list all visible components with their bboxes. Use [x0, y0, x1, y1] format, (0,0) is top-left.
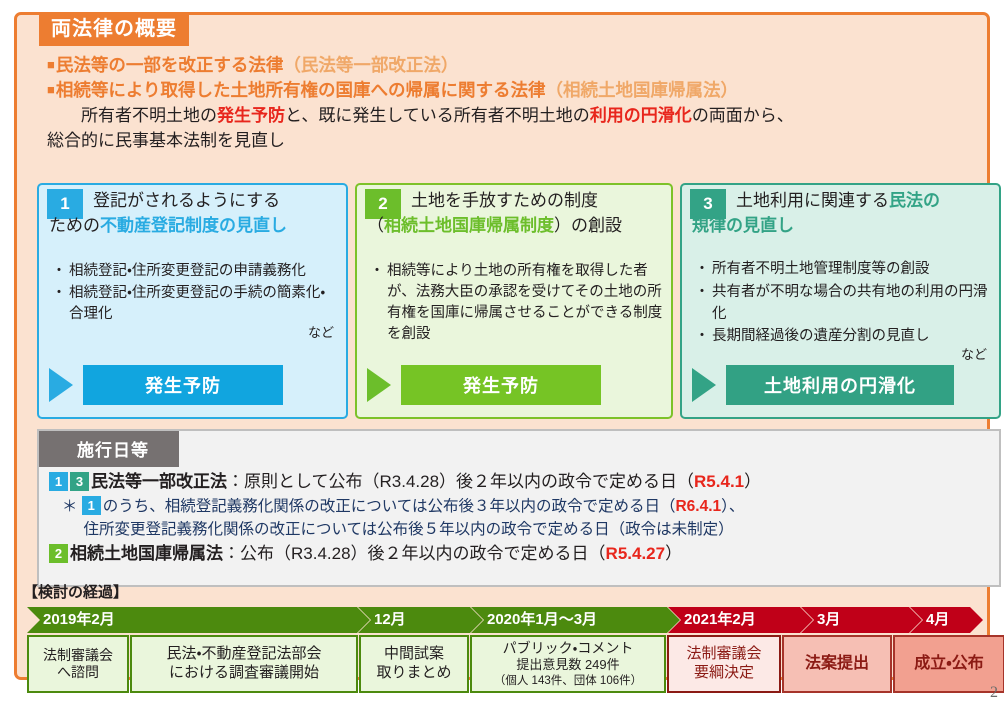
summary-line-1: 所有者不明土地の発生予防と、既に発生している所有者不明土地の利用の円滑化の両面か…	[47, 103, 977, 129]
timeline-cell-5-line2: 要綱決定	[686, 664, 761, 683]
enforcement-panel-title: 施行日等	[39, 431, 179, 467]
timeline-cell-1-text: 法制審議会 へ諮問	[41, 647, 115, 682]
measure-box-3-keyword-1: 民法の	[889, 191, 940, 210]
enforcement-line-4-tail: ）	[665, 544, 682, 563]
timeline-cell-6-text: 法案提出	[803, 654, 871, 674]
measure-box-3-heading-line1-a: 土地利用に関連する	[736, 191, 889, 210]
measure-box-1-etc: など	[49, 324, 338, 343]
timeline-cell-3-text: 中間試案 取りまとめ	[374, 645, 453, 683]
enforcement-line-4-date: R5.4.27	[606, 544, 666, 563]
measure-box-1: 1 登記がされるようにする ための不動産登記制度の見直し ・相続登記・住所変更登…	[37, 183, 348, 419]
list-item: ・相続登記・住所変更登記の申請義務化	[49, 261, 338, 282]
measure-box-3-bullet-2: 共有者が不明な場合の共有地の利用の円滑化	[712, 282, 991, 326]
measure-box-2-bullets: ・相続等により土地の所有権を取得した者が、法務大臣の承認を受けてその土地の所有権…	[367, 261, 663, 346]
summary-keyword-utilization: 利用の円滑化	[590, 106, 692, 125]
badge-2: 2	[49, 544, 68, 563]
timeline-cell-2-line1: 民法・不動産登記法部会	[166, 645, 321, 664]
enforcement-line-2-prefix: ＊	[62, 498, 78, 515]
timeline-arrow-5-label: 3月	[801, 607, 909, 633]
timeline-arrow-5: 3月	[801, 607, 909, 633]
bullet-dot-icon: ・	[692, 259, 712, 281]
measure-box-1-heading: 登記がされるようにする ための不動産登記制度の見直し	[49, 189, 347, 238]
timeline-cell-1-line2: へ諮問	[43, 664, 113, 682]
panel-header-text: ■民法等の一部を改正する法律（民法等一部改正法） ■相続等により取得した土地所有…	[47, 53, 977, 154]
enforcement-line-1-date: R5.4.1	[694, 472, 744, 491]
bullet-dot-icon: ・	[692, 282, 712, 326]
measure-box-3-heading: 土地利用に関連する民法の 規律の見直し	[692, 189, 996, 238]
measure-box-3-bullet-1: 所有者不明土地管理制度等の創設	[712, 259, 991, 281]
measure-box-1-bullets: ・相続登記・住所変更登記の申請義務化 ・相続登記・住所変更登記の手続の簡素化・合…	[49, 261, 338, 343]
enforcement-line-1: 13民法等一部改正法：原則として公布（R3.4.28）後２年以内の政令で定める日…	[49, 469, 991, 495]
measure-box-3: 3 土地利用に関連する民法の 規律の見直し ・所有者不明土地管理制度等の創設 ・…	[680, 183, 1001, 419]
enforcement-line-2-tail: ）、	[721, 498, 744, 515]
summary-line-2: 総合的に民事基本法制を見直し	[47, 128, 977, 154]
measure-box-1-heading-line2-a: ための	[49, 216, 100, 235]
timeline-label: 【検討の経過】	[23, 581, 128, 602]
measure-box-2-footer: 発生予防	[367, 365, 601, 405]
measure-box-2-heading-line1: 土地を手放すための制度	[367, 189, 671, 214]
measure-box-2-keyword: 相続土地国庫帰属制度	[384, 216, 554, 235]
list-item: ・所有者不明土地管理制度等の創設	[692, 259, 991, 281]
measure-box-3-footer: 土地利用の円滑化	[692, 365, 954, 405]
timeline-cell-2: 民法・不動産登記法部会 における調査審議開始	[130, 635, 358, 693]
measure-box-2-bullet-1: 相続等により土地の所有権を取得した者が、法務大臣の承認を受けてその土地の所有権を…	[387, 261, 663, 345]
badge-3: 3	[70, 472, 89, 491]
triangle-right-icon	[367, 368, 391, 402]
timeline-arrow-2-label: 12月	[358, 607, 470, 633]
timeline-cell-3: 中間試案 取りまとめ	[359, 635, 469, 693]
timeline-arrow-3: 2020年1月～3月	[471, 607, 667, 633]
measure-box-1-tag: 発生予防	[83, 365, 283, 405]
badge-1: 1	[49, 472, 68, 491]
measures-group: 1 登記がされるようにする ための不動産登記制度の見直し ・相続登記・住所変更登…	[37, 183, 1001, 419]
triangle-right-icon	[49, 368, 73, 402]
bullet-dot-icon: ・	[49, 261, 69, 282]
timeline-cell-4-text: パブリック・コメント 提出意見数 249件 （個人 143件、団体 106件）	[492, 640, 644, 688]
timeline-arrow-1-label: 2019年2月	[27, 607, 357, 633]
timeline-cell-4-line2: 提出意見数 249件	[494, 657, 642, 673]
timeline-cell-6: 法案提出	[782, 635, 892, 693]
timeline-cell-1: 法制審議会 へ諮問	[27, 635, 129, 693]
timeline-cell-5-text: 法制審議会 要綱決定	[684, 645, 763, 683]
header-bullet-2: ■相続等により取得した土地所有権の国庫への帰属に関する法律（相続土地国庫帰属法）	[47, 78, 977, 103]
measure-box-1-keyword: 不動産登記制度の見直し	[100, 216, 287, 235]
timeline: 2019年2月 12月 2020年1月～3月 2021年2月 3月 4月 法制審…	[27, 607, 983, 693]
overview-panel: 両法律の概要 ■民法等の一部を改正する法律（民法等一部改正法） ■相続等により取…	[14, 12, 990, 680]
enforcement-line-1-text: ：原則として公布（R3.4.28）後２年以内の政令で定める日（	[227, 472, 694, 491]
summary-keyword-prevention: 発生予防	[217, 106, 285, 125]
list-item: ・相続等により土地の所有権を取得した者が、法務大臣の承認を受けてその土地の所有権…	[367, 261, 663, 345]
enforcement-line-4: 2相続土地国庫帰属法：公布（R3.4.28）後２年以内の政令で定める日（R5.4…	[49, 541, 991, 567]
measure-box-3-tag: 土地利用の円滑化	[726, 365, 954, 405]
slide-root: 両法律の概要 ■民法等の一部を改正する法律（民法等一部改正法） ■相続等により取…	[0, 0, 1004, 704]
timeline-cell-2-line2: における調査審議開始	[166, 664, 321, 683]
measure-box-1-bullet-2: 相続登記・住所変更登記の手続の簡素化・合理化	[69, 283, 338, 325]
bullet-square-icon: ■	[47, 57, 55, 72]
timeline-cell-1-line1: 法制審議会	[43, 647, 113, 665]
header-bullet-1-paren: （民法等一部改正法）	[283, 55, 458, 75]
timeline-cell-2-text: 民法・不動産登記法部会 における調査審議開始	[164, 645, 323, 683]
measure-box-1-footer: 発生予防	[49, 365, 283, 405]
enforcement-line-4-text: ：公布（R3.4.28）後２年以内の政令で定める日（	[223, 544, 606, 563]
enforcement-line-3-text: 住所変更登記義務化関係の改正については公布後５年以内の政令で定める日（政令は未制…	[83, 521, 733, 538]
timeline-arrow-1: 2019年2月	[27, 607, 357, 633]
measure-box-2-heading: 土地を手放すための制度 （相続土地国庫帰属制度）の創設	[367, 189, 671, 238]
timeline-cell-row: 法制審議会 へ諮問 民法・不動産登記法部会 における調査審議開始 中間試案 取り…	[27, 635, 983, 693]
measure-box-2-heading-line2-a: （	[367, 216, 384, 235]
measure-box-1-heading-line2: ための不動産登記制度の見直し	[49, 214, 347, 239]
summary-line-1-a: 所有者不明土地の	[81, 106, 217, 125]
bullet-dot-icon: ・	[692, 326, 712, 348]
enforcement-line-2-date: R6.4.1	[675, 498, 721, 515]
timeline-cell-7: 成立・公布	[893, 635, 1004, 693]
measure-box-3-keyword-2: 規律の見直し	[692, 216, 794, 235]
enforcement-panel: 施行日等 13民法等一部改正法：原則として公布（R3.4.28）後２年以内の政令…	[37, 429, 1001, 587]
measure-box-2-tag: 発生予防	[401, 365, 601, 405]
timeline-arrow-row: 2019年2月 12月 2020年1月～3月 2021年2月 3月 4月	[27, 607, 983, 633]
enforcement-line-3: 住所変更登記義務化関係の改正については公布後５年以内の政令で定める日（政令は未制…	[49, 518, 991, 541]
header-bullet-1-bold: 民法等の一部を改正する法律	[56, 55, 284, 75]
summary-line-1-e: の両面から、	[692, 106, 794, 125]
measure-box-3-bullets: ・所有者不明土地管理制度等の創設 ・共有者が不明な場合の共有地の利用の円滑化 ・…	[692, 259, 991, 365]
timeline-cell-4-line1: パブリック・コメント	[494, 640, 642, 658]
timeline-arrow-4-label: 2021年2月	[668, 607, 800, 633]
measure-box-3-bullet-3: 長期間経過後の遺産分割の見直し	[712, 326, 991, 348]
enforcement-line-2: ＊ 1のうち、相続登記義務化関係の改正については公布後３年以内の政令で定める日（…	[49, 495, 991, 518]
triangle-right-icon	[692, 368, 716, 402]
timeline-cell-5-line1: 法制審議会	[686, 645, 761, 664]
timeline-arrow-3-label: 2020年1月～3月	[471, 607, 667, 633]
panel-title: 両法律の概要	[39, 13, 189, 46]
measure-box-2: 2 土地を手放すための制度 （相続土地国庫帰属制度）の創設 ・相続等により土地の…	[355, 183, 673, 419]
measure-box-3-heading-line2: 規律の見直し	[692, 214, 996, 239]
header-bullet-1: ■民法等の一部を改正する法律（民法等一部改正法）	[47, 53, 977, 78]
timeline-arrow-4: 2021年2月	[668, 607, 800, 633]
enforcement-line-1-law: 民法等一部改正法	[91, 472, 227, 491]
badge-1: 1	[82, 496, 101, 515]
measure-box-1-heading-line1: 登記がされるようにする	[49, 189, 347, 214]
header-bullet-2-paren: （相続土地国庫帰属法）	[546, 80, 739, 100]
bullet-dot-icon: ・	[49, 283, 69, 325]
enforcement-line-1-tail: ）	[744, 472, 761, 491]
list-item: ・長期間経過後の遺産分割の見直し	[692, 326, 991, 348]
bullet-square-icon: ■	[47, 82, 55, 97]
enforcement-panel-body: 13民法等一部改正法：原則として公布（R3.4.28）後２年以内の政令で定める日…	[49, 469, 991, 567]
enforcement-line-2-text: のうち、相続登記義務化関係の改正については公布後３年以内の政令で定める日（	[103, 498, 676, 515]
page-number: 2	[990, 684, 998, 702]
measure-box-1-bullet-1: 相続登記・住所変更登記の申請義務化	[69, 261, 338, 282]
measure-box-2-heading-line2: （相続土地国庫帰属制度）の創設	[367, 214, 671, 239]
timeline-cell-4-line3: （個人 143件、団体 106件）	[494, 674, 642, 688]
measure-box-3-heading-line1: 土地利用に関連する民法の	[692, 189, 996, 214]
timeline-cell-7-text: 成立・公布	[912, 654, 985, 674]
timeline-cell-4: パブリック・コメント 提出意見数 249件 （個人 143件、団体 106件）	[470, 635, 666, 693]
timeline-cell-5: 法制審議会 要綱決定	[667, 635, 781, 693]
timeline-arrow-2: 12月	[358, 607, 470, 633]
timeline-cell-3-line2: 取りまとめ	[376, 664, 451, 683]
bullet-dot-icon: ・	[367, 261, 387, 345]
summary-line-1-c: と、既に発生している所有者不明土地の	[285, 106, 590, 125]
timeline-cell-3-line1: 中間試案	[376, 645, 451, 664]
measure-box-2-heading-line2-b: ）の創設	[554, 216, 622, 235]
list-item: ・相続登記・住所変更登記の手続の簡素化・合理化	[49, 283, 338, 325]
header-bullet-2-bold: 相続等により取得した土地所有権の国庫への帰属に関する法律	[56, 80, 546, 100]
enforcement-line-4-law: 相続土地国庫帰属法	[70, 544, 223, 563]
list-item: ・共有者が不明な場合の共有地の利用の円滑化	[692, 282, 991, 326]
